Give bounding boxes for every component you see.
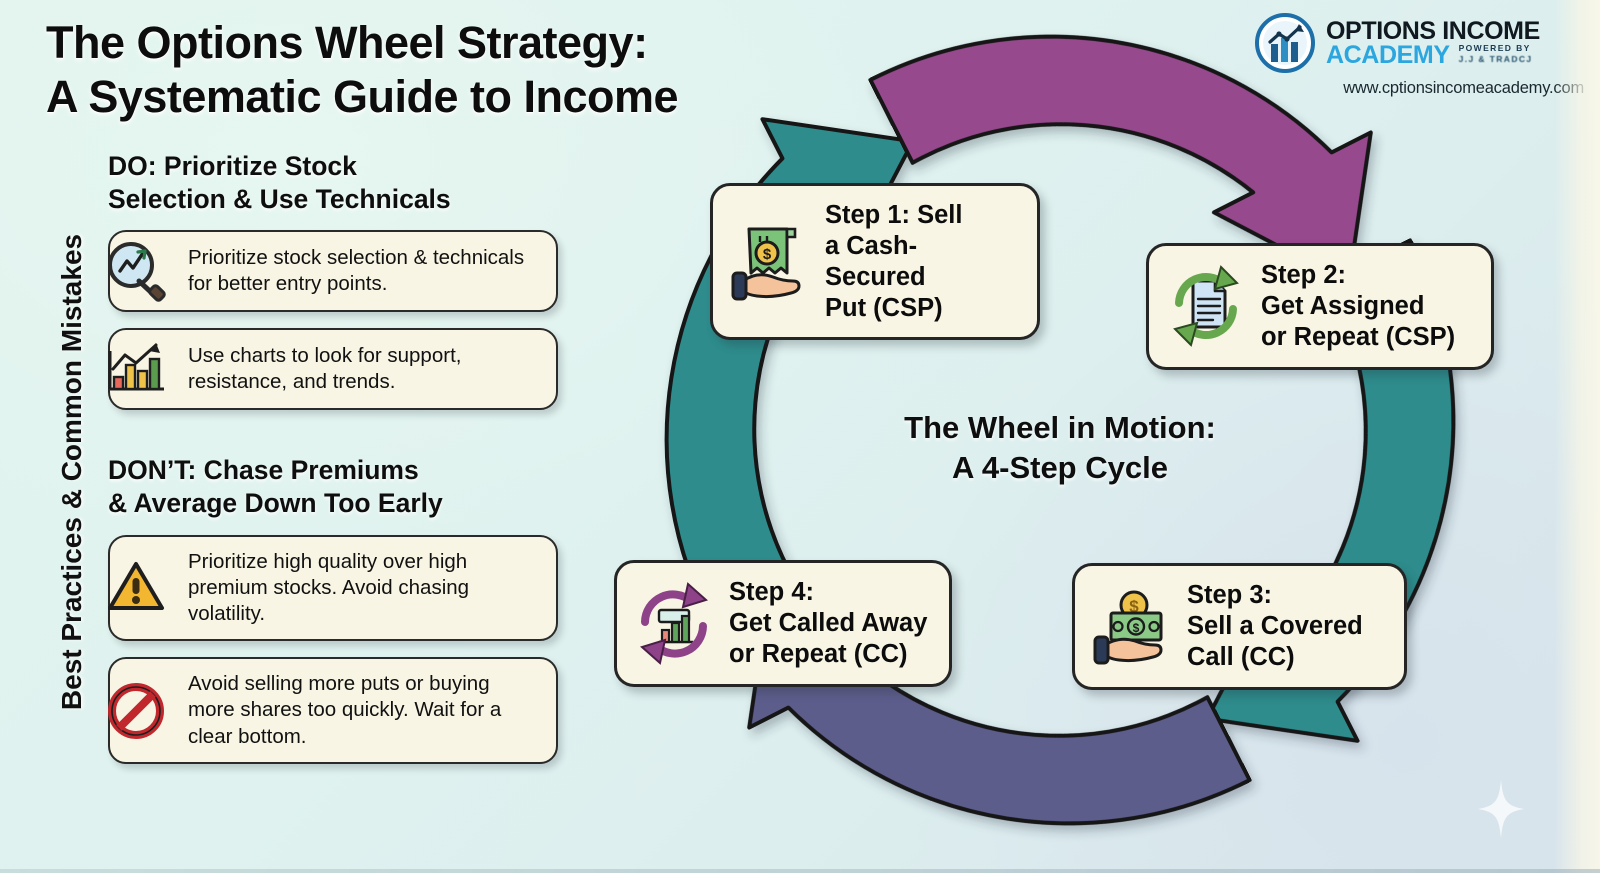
logo-line-2: ACADEMY <box>1326 43 1450 68</box>
wheel-arrow-top-left <box>640 63 1065 620</box>
document-refresh-icon <box>1163 263 1249 349</box>
wheel-arrows <box>640 10 1480 850</box>
tip-text: Use charts to look for support, resistan… <box>188 343 540 395</box>
warning-triangle-icon <box>94 546 178 630</box>
tip-text: Prioritize high quality over high premiu… <box>188 549 540 628</box>
right-edge-band <box>1554 0 1600 873</box>
step-card-3[interactable]: $ $ Step 3: Sell a Covered Call (CC) <box>1072 563 1407 690</box>
svg-text:$: $ <box>763 246 772 263</box>
step-card-1[interactable]: $ Step 1: Sell a Cash-Secured Put (CSP) <box>710 183 1040 340</box>
step-card-3-label: Step 3: Sell a Covered Call (CC) <box>1187 580 1363 673</box>
step-card-4[interactable]: Step 4: Get Called Away or Repeat (CC) <box>614 560 952 687</box>
title-line-1: The Options Wheel Strategy: <box>46 17 648 68</box>
chart-refresh-icon <box>631 580 717 666</box>
hand-banknote-coin-icon: $ $ <box>1089 583 1175 669</box>
wheel-diagram: The Wheel in Motion: A 4-Step Cycle <box>640 10 1480 850</box>
tip-card-dont-2[interactable]: Avoid selling more puts or buying more s… <box>108 657 558 764</box>
tip-text: Avoid selling more puts or buying more s… <box>188 671 540 750</box>
best-practices-column: DO: Prioritize Stock Selection & Use Tec… <box>108 150 558 780</box>
step-card-1-label: Step 1: Sell a Cash-Secured Put (CSP) <box>825 200 1017 323</box>
bar-chart-trend-icon <box>94 327 178 411</box>
do-heading-line-2: Selection & Use Technicals <box>108 183 558 216</box>
dont-heading-line-2: & Average Down Too Early <box>108 487 558 520</box>
svg-text:$: $ <box>1133 621 1140 635</box>
infographic-canvas: The Options Wheel Strategy: A Systematic… <box>0 0 1600 873</box>
tip-card-dont-1[interactable]: Prioritize high quality over high premiu… <box>108 535 558 642</box>
brand-logo[interactable]: OPTIONS INCOME ACADEMY POWERED BY J.J & … <box>1254 12 1584 98</box>
dont-heading-line-1: DON’T: Chase Premiums <box>108 455 419 485</box>
powered-by-line-2: J.J & TRADCJ <box>1459 54 1533 65</box>
logo-line-1: OPTIONS INCOME <box>1326 19 1540 44</box>
step-card-2[interactable]: Step 2: Get Assigned or Repeat (CSP) <box>1146 243 1494 370</box>
do-section-heading: DO: Prioritize Stock Selection & Use Tec… <box>108 150 558 216</box>
prohibition-icon <box>94 669 178 753</box>
logo-powered-by: POWERED BY J.J & TRADCJ <box>1459 43 1533 67</box>
step-card-4-label: Step 4: Get Called Away or Repeat (CC) <box>729 577 927 670</box>
chart-circle-logo-icon <box>1254 12 1316 74</box>
sidebar-vertical-label: Best Practices & Common Mistakes <box>56 152 88 792</box>
tip-text: Prioritize stock selection & technicals … <box>188 245 540 297</box>
dont-section-heading: DON’T: Chase Premiums & Average Down Too… <box>108 454 558 520</box>
tip-card-do-1[interactable]: Prioritize stock selection & technicals … <box>108 230 558 312</box>
do-heading-line-1: DO: Prioritize Stock <box>108 151 357 181</box>
tip-card-do-2[interactable]: Use charts to look for support, resistan… <box>108 328 558 410</box>
step-card-2-label: Step 2: Get Assigned or Repeat (CSP) <box>1261 260 1455 353</box>
magnifier-chart-icon <box>94 229 178 313</box>
sparkle-icon <box>1478 780 1524 838</box>
bottom-rule <box>0 869 1600 873</box>
logo-website-url[interactable]: www.cptionsincomeacademy.com <box>1254 79 1584 98</box>
hand-cash-receipt-icon: $ <box>727 219 813 305</box>
powered-by-line-1: POWERED BY <box>1459 43 1533 54</box>
